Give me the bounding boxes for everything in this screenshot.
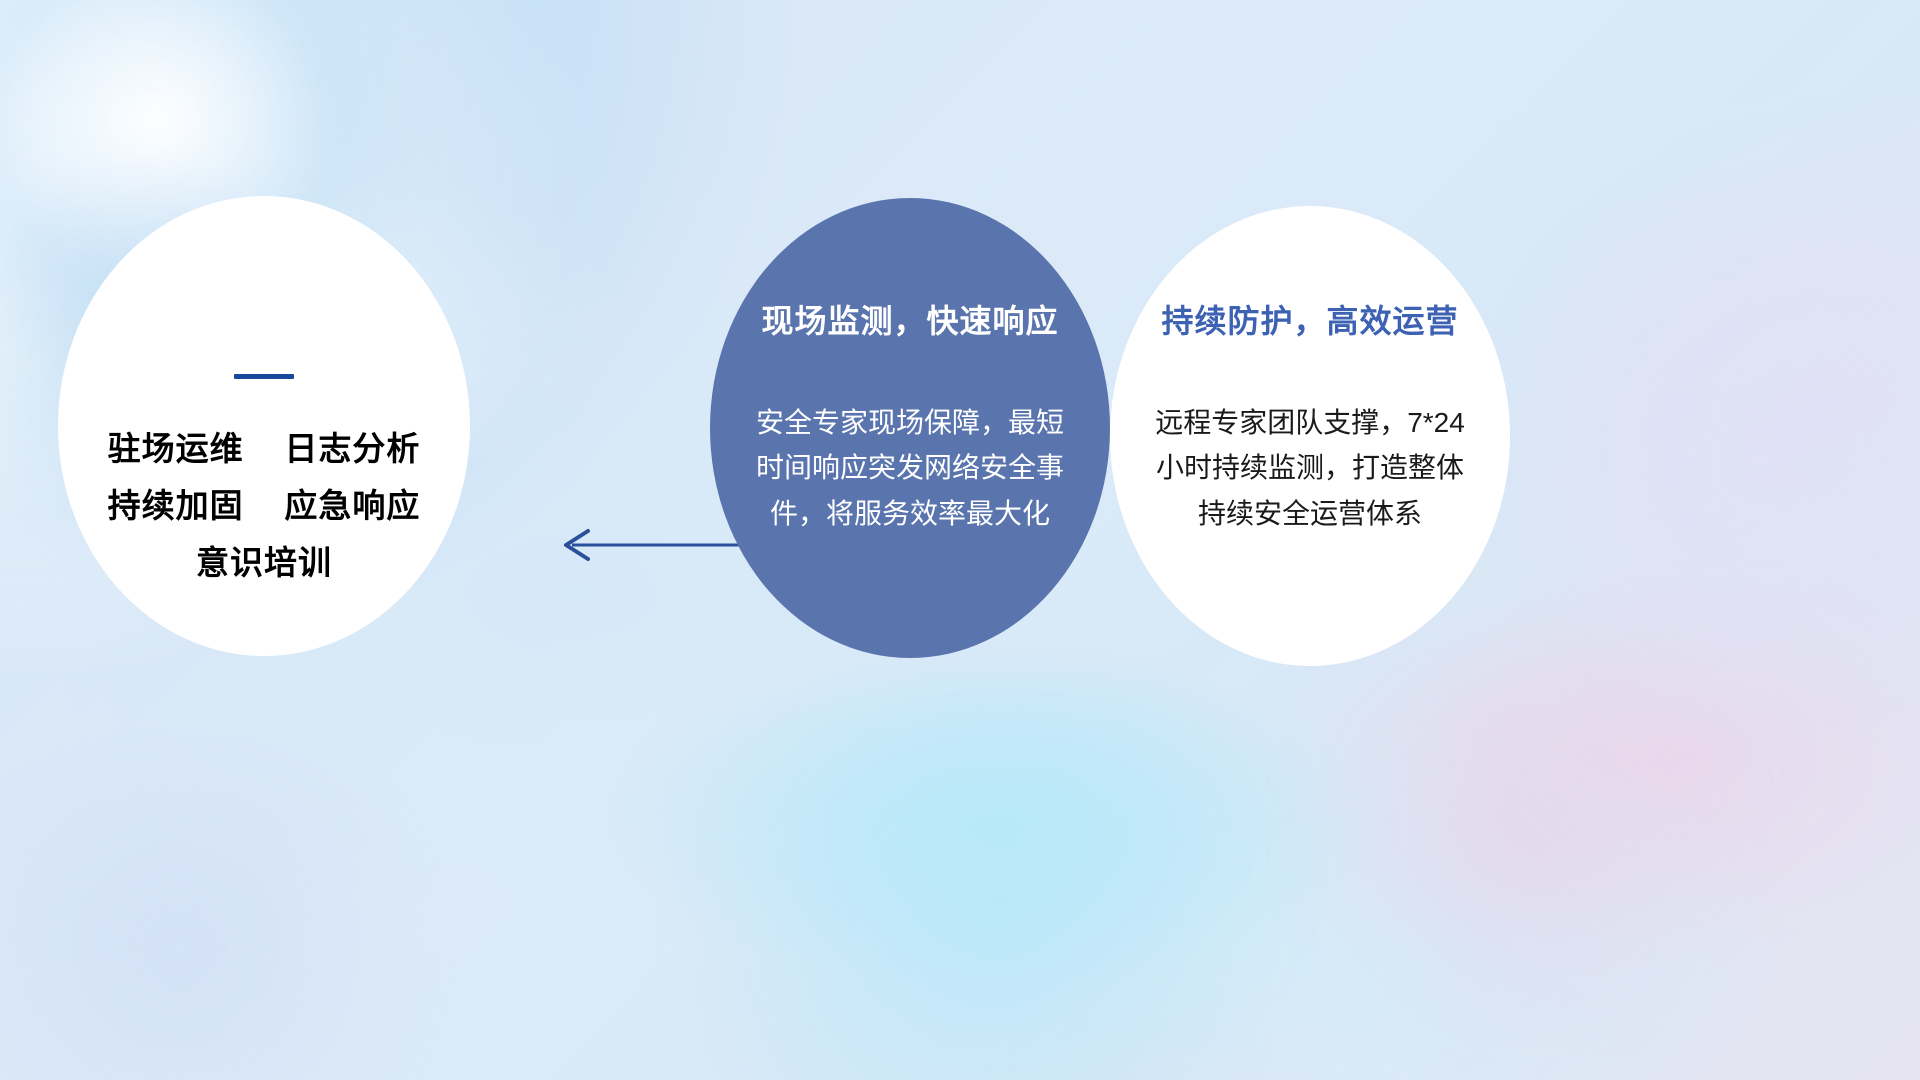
left-circle-text-block: 驻场运维 日志分析 持续加固 应急响应 意识培训 [108,421,421,591]
slide-canvas: 驻场运维 日志分析 持续加固 应急响应 意识培训 现场监测，快速响应 安全专家现… [0,0,1920,1080]
right-operations-circle[interactable]: 持续防护，高效运营 远程专家团队支撑，7*24小时持续监测，打造整体持续安全运营… [1110,206,1510,666]
capability-line-3: 意识培训 [108,535,421,592]
right-circle-title: 持续防护，高效运营 [1161,296,1458,342]
middle-circle-body: 安全专家现场保障，最短时间响应突发网络安全事件，将服务效率最大化 [750,400,1070,536]
background-glow-right [1500,180,1920,740]
background-glow-bottom-right [1260,620,1780,1060]
right-circle-body: 远程专家团队支撑，7*24小时持续监测，打造整体持续安全运营体系 [1150,400,1470,536]
divider-dash-icon [234,374,294,379]
background-glow-bottom-center [620,680,1380,1080]
capability-line-2: 持续加固 应急响应 [108,478,421,535]
left-capability-circle[interactable]: 驻场运维 日志分析 持续加固 应急响应 意识培训 [58,196,470,656]
middle-circle-title: 现场监测，快速响应 [761,296,1058,342]
middle-onsite-circle[interactable]: 现场监测，快速响应 安全专家现场保障，最短时间响应突发网络安全事件，将服务效率最… [710,198,1110,658]
background-glow-bottom-left [0,760,460,1080]
capability-line-1: 驻场运维 日志分析 [108,421,421,478]
